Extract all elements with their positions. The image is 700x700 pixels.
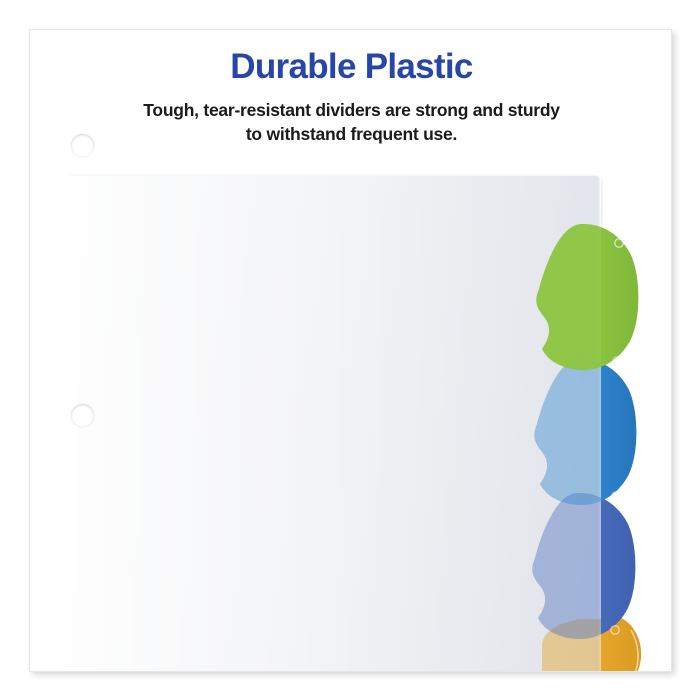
- page-subtitle-line-1: Tough, tear-resistant dividers are stron…: [143, 100, 560, 120]
- tab-blue-hit[interactable]: [554, 345, 646, 485]
- photo-frame: Durable Plastic Tough, tear-resistant di…: [29, 29, 672, 672]
- page-subtitle: Tough, tear-resistant dividers are stron…: [62, 98, 642, 146]
- page-title: Durable Plastic: [30, 48, 672, 87]
- sheet-sheen: [66, 176, 601, 672]
- binder-hole-bottom: [71, 404, 94, 427]
- divider-sheet: [66, 176, 601, 672]
- tab-indigo-hit[interactable]: [554, 480, 646, 620]
- page-subtitle-line-2: to withstand frequent use.: [246, 124, 457, 144]
- tab-green-hit[interactable]: [554, 209, 646, 349]
- product-image-card: Durable Plastic Tough, tear-resistant di…: [0, 0, 700, 700]
- headline-block: Durable Plastic Tough, tear-resistant di…: [30, 48, 672, 146]
- tab-orange-hit[interactable]: [554, 615, 646, 672]
